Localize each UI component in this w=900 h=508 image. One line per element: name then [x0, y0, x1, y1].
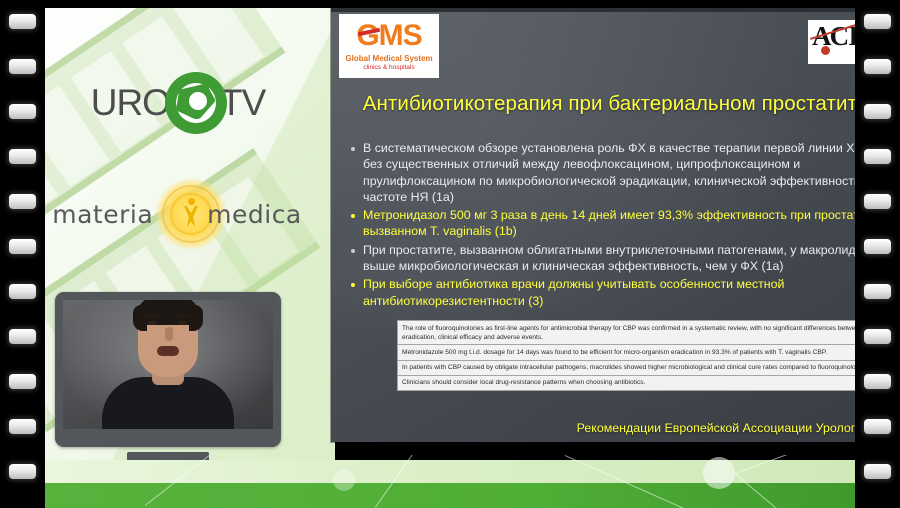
bullet-marker-icon [351, 283, 355, 287]
presenter-hair [136, 300, 200, 325]
table-row: The role of fluoroquinolones as first-li… [398, 321, 900, 345]
film-sprocket-hole [9, 239, 36, 254]
gms-logo-wordmark: GMS [356, 21, 421, 51]
urotv-logo: URO TV [58, 68, 298, 138]
table-row: In patients with CBP caused by obligate … [398, 360, 900, 375]
film-strip-right [855, 0, 900, 508]
film-sprocket-hole [864, 104, 891, 119]
film-sprocket-hole [864, 149, 891, 164]
film-sprocket-hole [864, 329, 891, 344]
slide-bullet-list: В систематическом обзоре установлена рол… [345, 140, 896, 311]
table-row: Clinicians should consider local drug-re… [398, 375, 900, 390]
video-player-frame: URO TV materia medica [0, 0, 900, 508]
film-sprocket-hole [9, 14, 36, 29]
bullet-marker-icon [351, 147, 355, 151]
film-sprocket-hole [864, 419, 891, 434]
urotv-leaf-icon [165, 72, 227, 134]
table-cell-statement: Metronidazole 500 mg t.i.d. dosage for 1… [398, 345, 900, 360]
table-cell-statement: Clinicians should consider local drug-re… [398, 375, 900, 390]
gms-logo-slash [358, 28, 380, 36]
bottom-band-decoration [45, 455, 855, 508]
film-sprocket-hole [864, 284, 891, 299]
gms-logo-line2: clinics & hospitals [363, 64, 414, 71]
materia-medica-left-word: materia [52, 200, 153, 229]
materia-medica-right-word: medica [207, 200, 302, 229]
film-sprocket-hole [9, 284, 36, 299]
table-cell-statement: In patients with CBP caused by obligate … [398, 360, 900, 375]
film-sprocket-hole [864, 59, 891, 74]
presenter-brow-left [146, 315, 158, 318]
film-sprocket-hole [9, 419, 36, 434]
film-sprocket-hole [864, 374, 891, 389]
urotv-logo-left-text: URO [91, 82, 170, 124]
film-sprocket-hole [9, 149, 36, 164]
film-sprocket-hole [9, 59, 36, 74]
presenter-eye-right [178, 321, 187, 325]
materia-medica-logo: materia medica [52, 182, 302, 246]
film-sprocket-hole [864, 14, 891, 29]
presenter-video[interactable] [63, 300, 273, 429]
presenter-monitor [55, 292, 281, 447]
film-sprocket-hole [9, 104, 36, 119]
evidence-summary-table: The role of fluoroquinolones as first-li… [397, 320, 900, 391]
bullet-text: В систематическом обзоре установлена рол… [363, 140, 896, 205]
presentation-slide: GMS Global Medical System clinics & hosp… [331, 8, 900, 442]
slide-title: Антибиотикотерапия при бактериальном про… [331, 92, 900, 116]
presenter-brow-right [177, 315, 189, 318]
bullet-marker-icon [351, 214, 355, 218]
film-sprocket-hole [9, 464, 36, 479]
bullet-text: При простатите, вызванном облигатными вн… [363, 242, 896, 275]
slide-bullet-item: Метронидазол 500 мг 3 раза в день 14 дне… [345, 207, 896, 240]
film-sprocket-hole [9, 329, 36, 344]
presenter-nose [165, 327, 173, 341]
gms-logo: GMS Global Medical System clinics & hosp… [339, 14, 439, 78]
table-row: Metronidazole 500 mg t.i.d. dosage for 1… [398, 345, 900, 360]
slide-bullet-item: При выборе антибиотика врачи должны учит… [345, 276, 896, 309]
aspek-logo-dot [821, 46, 830, 55]
bullet-text: При выборе антибиотика врачи должны учит… [363, 276, 896, 309]
bullet-text: Метронидазол 500 мг 3 раза в день 14 дне… [363, 207, 896, 240]
film-strip-left [0, 0, 45, 508]
film-sprocket-hole [9, 194, 36, 209]
materia-medica-person-icon [183, 198, 199, 228]
film-sprocket-hole [9, 374, 36, 389]
film-sprocket-hole [864, 464, 891, 479]
slide-citation: Рекомендации Европейской Ассоциации Урол… [577, 421, 896, 435]
slide-top-rule [331, 8, 900, 12]
film-sprocket-hole [864, 239, 891, 254]
table-cell-statement: The role of fluoroquinolones as first-li… [398, 321, 900, 345]
gms-logo-line1: Global Medical System [345, 54, 432, 63]
presenter-mouth [157, 346, 179, 356]
film-strip-top [0, 0, 900, 8]
film-sprocket-hole [864, 194, 891, 209]
presenter-eye-left [148, 321, 157, 325]
bullet-marker-icon [351, 249, 355, 253]
slide-bullet-item: В систематическом обзоре установлена рол… [345, 140, 896, 205]
slide-bullet-item: При простатите, вызванном облигатными вн… [345, 242, 896, 275]
